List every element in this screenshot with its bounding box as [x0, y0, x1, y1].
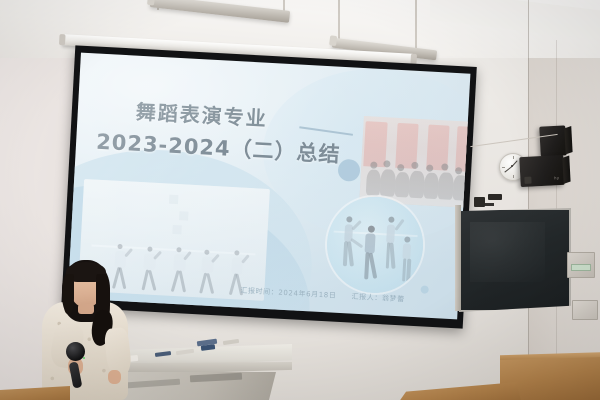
presenter	[36, 258, 144, 400]
speaker-grille-icon	[524, 177, 531, 184]
blackboard	[459, 208, 571, 312]
microphone-led-icon	[83, 357, 85, 359]
wall-speaker-large: hy	[519, 155, 565, 187]
speaker-brand-label: hy	[554, 175, 559, 180]
classroom-photo-scene: 舞蹈表演专业 2023-2024（二）总结 汇报时间：2024年6月18日 汇报…	[0, 0, 600, 400]
wall-panel-lower	[572, 300, 598, 320]
wall-speaker-small	[539, 125, 567, 156]
light-wire	[338, 0, 340, 42]
projector-mount	[474, 197, 485, 207]
slide-photo-group-performance	[359, 116, 470, 208]
wall-corner-line	[528, 0, 529, 400]
blackboard-frame-edge	[455, 205, 461, 311]
wall-control-box	[567, 252, 595, 278]
slide-title-line-1: 舞蹈表演专业	[135, 96, 268, 132]
presenter-hair-strand	[63, 274, 74, 314]
right-wall	[528, 0, 600, 400]
slide-accent-dot-small	[420, 285, 428, 293]
projector-mount-bracket	[488, 194, 502, 200]
presenter-hand-left	[108, 370, 121, 384]
presenter-neck	[78, 304, 94, 314]
